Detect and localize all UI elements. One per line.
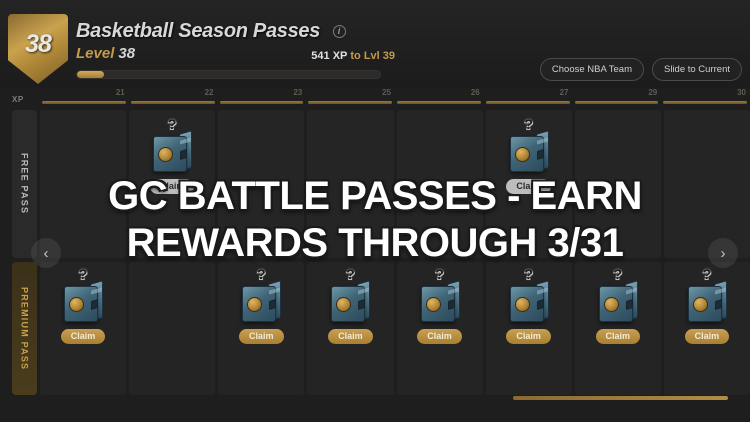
level-tick-bar bbox=[397, 101, 481, 104]
level-tick-bar bbox=[575, 101, 659, 104]
mystery-question-icon: ? bbox=[142, 118, 202, 130]
header-buttons: Choose NBA Team Slide to Current bbox=[540, 58, 742, 81]
level-badge-shield: 38 bbox=[8, 14, 68, 84]
level-tick: 25 bbox=[306, 88, 395, 110]
level-tick-bar bbox=[220, 101, 304, 104]
level-tick-bar bbox=[663, 101, 747, 104]
crate-emblem-icon bbox=[693, 297, 708, 312]
reward-item-premium[interactable]: ?Claim bbox=[231, 268, 291, 344]
header: 38 Basketball Season Passes i Level38 54… bbox=[0, 0, 750, 88]
crate-emblem-icon bbox=[69, 297, 84, 312]
level-tick-number: 21 bbox=[116, 88, 125, 97]
crate-emblem-icon bbox=[158, 147, 173, 162]
reward-item-premium[interactable]: ?Claim bbox=[499, 268, 559, 344]
choose-nba-team-button[interactable]: Choose NBA Team bbox=[540, 58, 644, 81]
promo-line-1: GC BATTLE PASSES - EARN bbox=[0, 173, 750, 220]
mystery-question-icon: ? bbox=[320, 268, 380, 280]
level-tick-number: 29 bbox=[648, 88, 657, 97]
xp-axis-label: XP bbox=[12, 95, 24, 104]
crate-emblem-icon bbox=[336, 297, 351, 312]
xp-to-level-text: to Lvl 39 bbox=[350, 50, 395, 62]
claim-button[interactable]: Claim bbox=[239, 329, 284, 344]
crate-slot-icon bbox=[626, 299, 633, 310]
reward-item-premium[interactable]: ?Claim bbox=[410, 268, 470, 344]
reward-item-premium[interactable]: ?Claim bbox=[677, 268, 737, 344]
xp-progress-fill bbox=[77, 71, 104, 78]
premium-pass-cell: ?Claim bbox=[307, 262, 393, 395]
level-tick: 26 bbox=[395, 88, 484, 110]
reward-crate-icon bbox=[684, 280, 730, 326]
crate-emblem-icon bbox=[247, 297, 262, 312]
claim-button[interactable]: Claim bbox=[596, 329, 641, 344]
crate-emblem-icon bbox=[515, 297, 530, 312]
reward-crate-icon bbox=[238, 280, 284, 326]
level-word: Level bbox=[76, 45, 114, 62]
reward-item-premium[interactable]: ?Claim bbox=[53, 268, 113, 344]
mystery-question-icon: ? bbox=[53, 268, 113, 280]
promo-overlay-text: GC BATTLE PASSES - EARN REWARDS THROUGH … bbox=[0, 173, 750, 267]
reward-crate-icon bbox=[417, 280, 463, 326]
xp-to-next-level: 541 XPto Lvl 39 bbox=[311, 50, 395, 62]
premium-pass-cell: ?Claim bbox=[397, 262, 483, 395]
page-title: Basketball Season Passes bbox=[76, 20, 320, 43]
crate-slot-icon bbox=[537, 299, 544, 310]
level-tick-number: 25 bbox=[382, 88, 391, 97]
level-tick-bar bbox=[486, 101, 570, 104]
premium-pass-cell: ?Claim bbox=[486, 262, 572, 395]
crate-emblem-icon bbox=[604, 297, 619, 312]
mystery-question-icon: ? bbox=[410, 268, 470, 280]
level-tick-bar bbox=[42, 101, 126, 104]
crate-emblem-icon bbox=[426, 297, 441, 312]
reward-item-premium[interactable]: ?Claim bbox=[320, 268, 380, 344]
xp-amount: 541 XP bbox=[311, 50, 347, 62]
level-number: 38 bbox=[118, 45, 135, 62]
crate-slot-icon bbox=[537, 149, 544, 160]
level-tick-bar bbox=[308, 101, 392, 104]
premium-pass-cell: ?Claim bbox=[40, 262, 126, 395]
promo-line-2: REWARDS THROUGH 3/31 bbox=[0, 220, 750, 267]
reward-crate-icon bbox=[506, 130, 552, 176]
level-tick: 21 bbox=[40, 88, 129, 110]
level-tick: 22 bbox=[129, 88, 218, 110]
reward-crate-icon bbox=[595, 280, 641, 326]
reward-crate-icon bbox=[506, 280, 552, 326]
title-block: Basketball Season Passes i Level38 bbox=[76, 20, 346, 62]
claim-button[interactable]: Claim bbox=[61, 329, 106, 344]
level-tick-number: 26 bbox=[471, 88, 480, 97]
level-tick: 23 bbox=[218, 88, 307, 110]
level-badge-number: 38 bbox=[25, 30, 51, 59]
crate-slot-icon bbox=[448, 299, 455, 310]
claim-button[interactable]: Claim bbox=[417, 329, 462, 344]
mystery-question-icon: ? bbox=[588, 268, 648, 280]
level-ticks: 2122232526272930 bbox=[40, 88, 750, 110]
info-icon[interactable]: i bbox=[333, 25, 346, 38]
mystery-question-icon: ? bbox=[677, 268, 737, 280]
premium-pass-cell: ?Claim bbox=[218, 262, 304, 395]
level-badge: 38 bbox=[8, 14, 68, 84]
level-tick-number: 30 bbox=[737, 88, 746, 97]
level-tick-row: XP 2122232526272930 bbox=[0, 88, 750, 110]
reward-crate-icon bbox=[60, 280, 106, 326]
slide-to-current-button[interactable]: Slide to Current bbox=[652, 58, 742, 81]
claim-button[interactable]: Claim bbox=[328, 329, 373, 344]
reward-crate-icon bbox=[149, 130, 195, 176]
claim-button[interactable]: Claim bbox=[685, 329, 730, 344]
level-tick: 29 bbox=[573, 88, 662, 110]
reward-crate-icon bbox=[327, 280, 373, 326]
mystery-question-icon: ? bbox=[499, 268, 559, 280]
level-tick-number: 27 bbox=[560, 88, 569, 97]
mystery-question-icon: ? bbox=[499, 118, 559, 130]
level-tick-bar bbox=[131, 101, 215, 104]
bottom-accent-bar bbox=[513, 396, 728, 400]
mystery-question-icon: ? bbox=[231, 268, 291, 280]
reward-item-premium[interactable]: ?Claim bbox=[588, 268, 648, 344]
battle-pass-screen: 38 Basketball Season Passes i Level38 54… bbox=[0, 0, 750, 422]
premium-pass-cell bbox=[129, 262, 215, 395]
level-tick: 27 bbox=[484, 88, 573, 110]
premium-pass-cell: ?Claim bbox=[575, 262, 661, 395]
level-tick-number: 22 bbox=[205, 88, 214, 97]
level-line: Level38 bbox=[76, 45, 346, 62]
premium-pass-label-text: PREMIUM PASS bbox=[20, 287, 30, 370]
level-tick-number: 23 bbox=[293, 88, 302, 97]
premium-pass-row-label[interactable]: PREMIUM PASS bbox=[12, 262, 37, 395]
xp-progress-bar bbox=[76, 70, 381, 79]
level-tick: 30 bbox=[661, 88, 750, 110]
premium-pass-cell: ?Claim bbox=[664, 262, 750, 395]
claim-button[interactable]: Claim bbox=[506, 329, 551, 344]
crate-emblem-icon bbox=[515, 147, 530, 162]
